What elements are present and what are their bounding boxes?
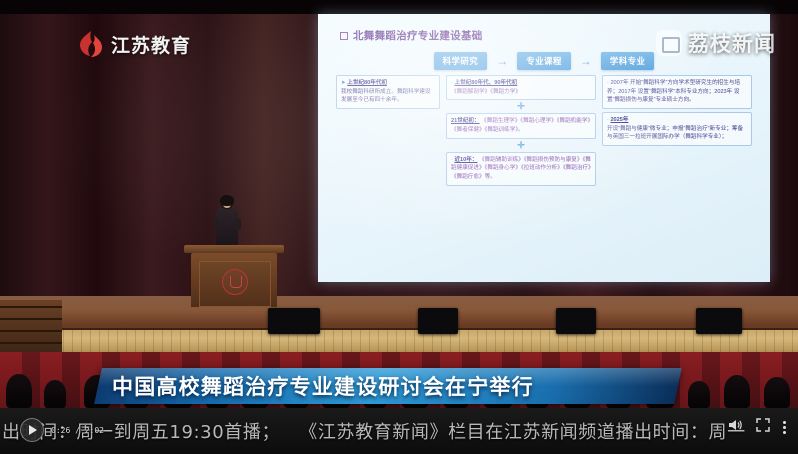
news-ticker-text: 出时间：周一到周五19:30首播； 《江苏教育新闻》栏目在江苏新闻频道播出时间：…: [0, 418, 746, 444]
player-right-controls[interactable]: [728, 418, 786, 437]
play-button[interactable]: [20, 418, 44, 442]
podium: [188, 245, 280, 307]
fullscreen-icon[interactable]: [756, 418, 770, 437]
channel-logo-text: 江苏教育: [111, 31, 191, 58]
stage-monitor-speaker: [556, 308, 596, 334]
news-ticker: 出时间：周一到周五19:30首播； 《江苏教育新闻》栏目在江苏新闻频道播出时间：…: [0, 408, 798, 454]
lizhi-news-logo-icon: [656, 30, 682, 56]
stage-monitor-speaker: [696, 308, 742, 334]
watermark: 荔枝新闻: [656, 28, 776, 58]
player-left-controls[interactable]: 0:26 / 2:02: [20, 418, 104, 442]
university-emblem-icon: [222, 269, 248, 295]
speaker-person: [216, 196, 238, 248]
lower-third-headline: 中国高校舞蹈治疗专业建设研讨会在宁举行: [112, 370, 672, 402]
watermark-text: 荔枝新闻: [688, 28, 776, 58]
ceiling-band: [0, 0, 798, 14]
stage-stairs: [0, 300, 62, 358]
video-frame[interactable]: 北舞舞蹈治疗专业建设基础 科学研究 → 专业课程 → 学科专业 ➤ 上世纪80年…: [0, 0, 798, 408]
speaker-arm: [235, 218, 241, 230]
volume-icon[interactable]: [728, 418, 743, 437]
more-options-icon[interactable]: [783, 421, 786, 434]
time-display: 0:26 / 2:02: [51, 426, 104, 435]
stage-monitor-speaker: [268, 308, 320, 334]
channel-logo: 江苏教育: [78, 30, 191, 58]
podium-top: [184, 245, 284, 253]
stage-monitor-speaker: [418, 308, 458, 334]
speaker-hair: [220, 195, 234, 206]
jiangsu-education-logo-icon: [78, 30, 104, 58]
speaker-arm: [213, 218, 219, 230]
video-player[interactable]: 北舞舞蹈治疗专业建设基础 科学研究 → 专业课程 → 学科专业 ➤ 上世纪80年…: [0, 0, 798, 454]
